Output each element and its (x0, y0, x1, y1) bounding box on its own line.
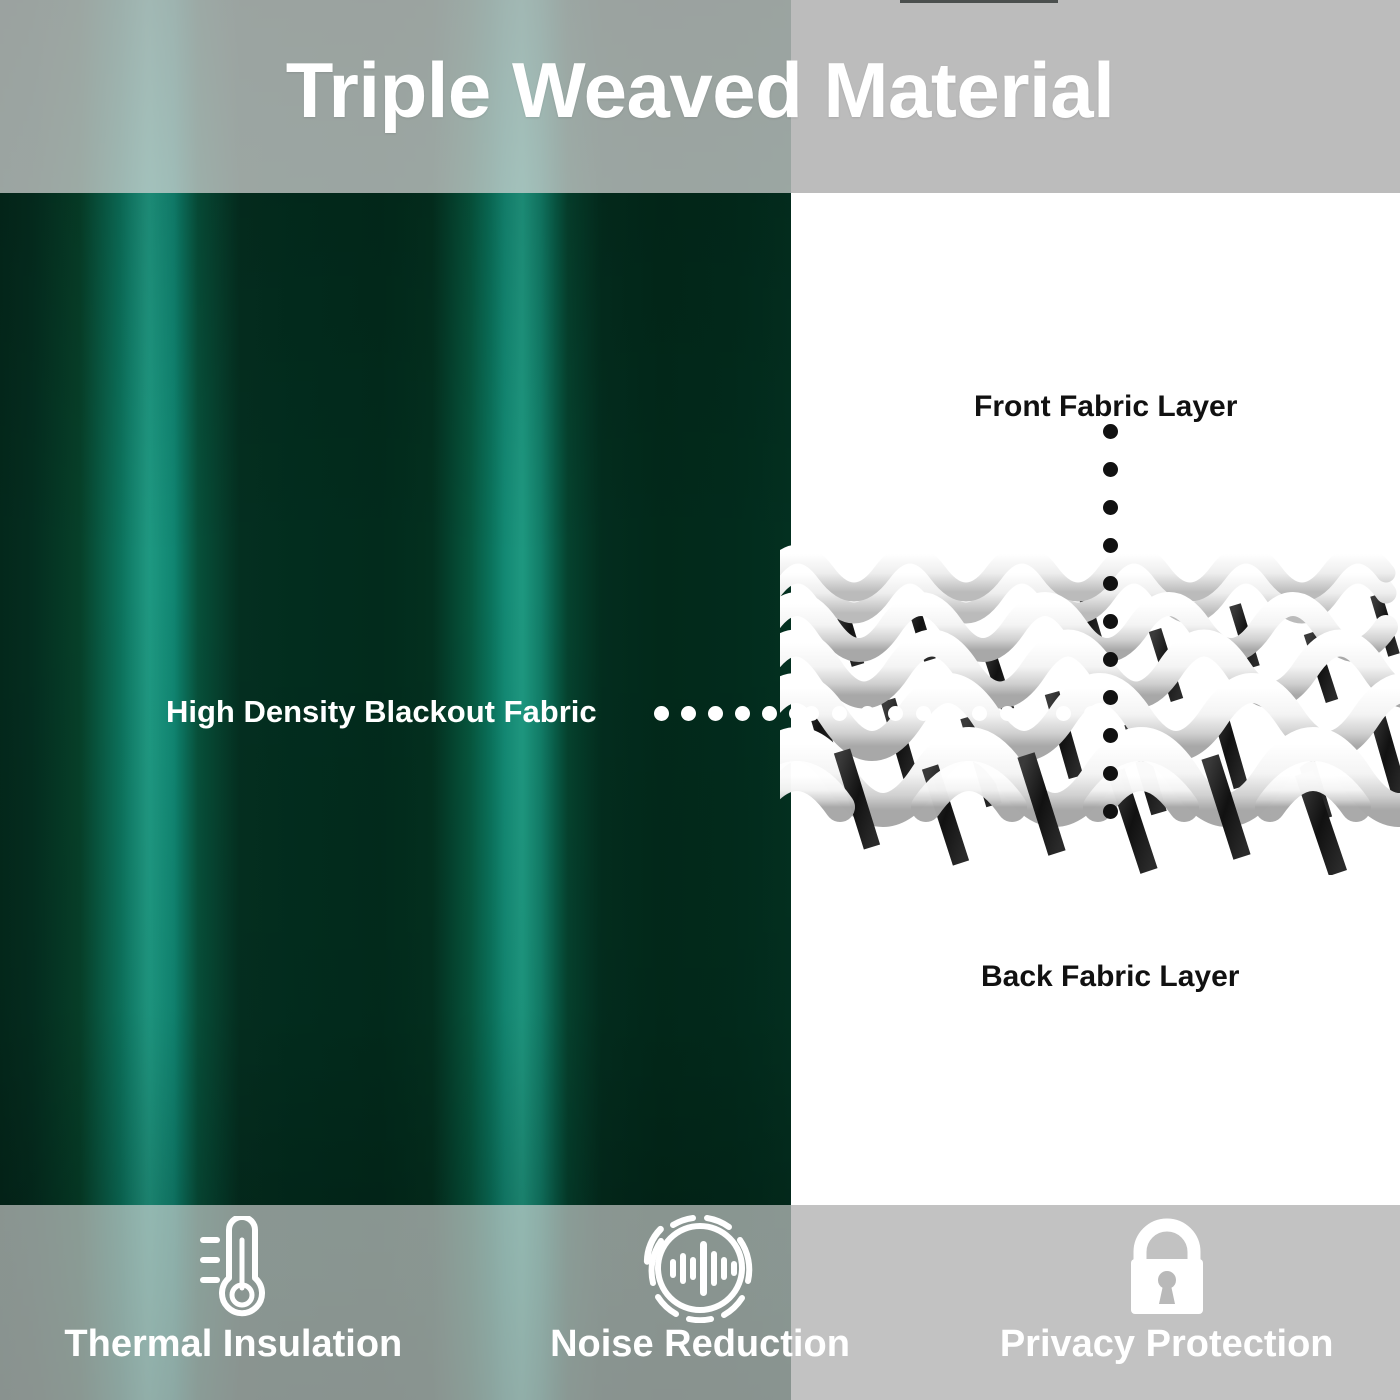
feature-label: Noise Reduction (550, 1325, 850, 1363)
front-fabric-layer-label: Front Fabric Layer (974, 390, 1237, 424)
infographic-page: Triple Weaved Material High Density Blac… (0, 0, 1400, 1400)
feature-list: Thermal Insulation (0, 1205, 1400, 1400)
feature-thermal-insulation: Thermal Insulation (0, 1205, 467, 1400)
feature-privacy-protection: Privacy Protection (933, 1205, 1400, 1400)
sound-wave-icon (641, 1213, 759, 1323)
leader-dots-vertical (1103, 424, 1119, 824)
feature-label: Thermal Insulation (64, 1325, 402, 1363)
feature-label: Privacy Protection (1000, 1325, 1334, 1363)
feature-noise-reduction: Noise Reduction (467, 1205, 934, 1400)
back-fabric-layer-label: Back Fabric Layer (981, 960, 1239, 994)
header-top-rule (900, 0, 1058, 3)
page-title: Triple Weaved Material (0, 50, 1400, 132)
leader-dots-horizontal-left (654, 706, 804, 722)
leader-dots-horizontal-right (804, 706, 1114, 722)
thermometer-icon (185, 1213, 281, 1323)
lock-icon (1114, 1213, 1220, 1323)
blackout-fabric-label: High Density Blackout Fabric (166, 694, 597, 730)
fabric-weave-illustration (780, 455, 1400, 875)
